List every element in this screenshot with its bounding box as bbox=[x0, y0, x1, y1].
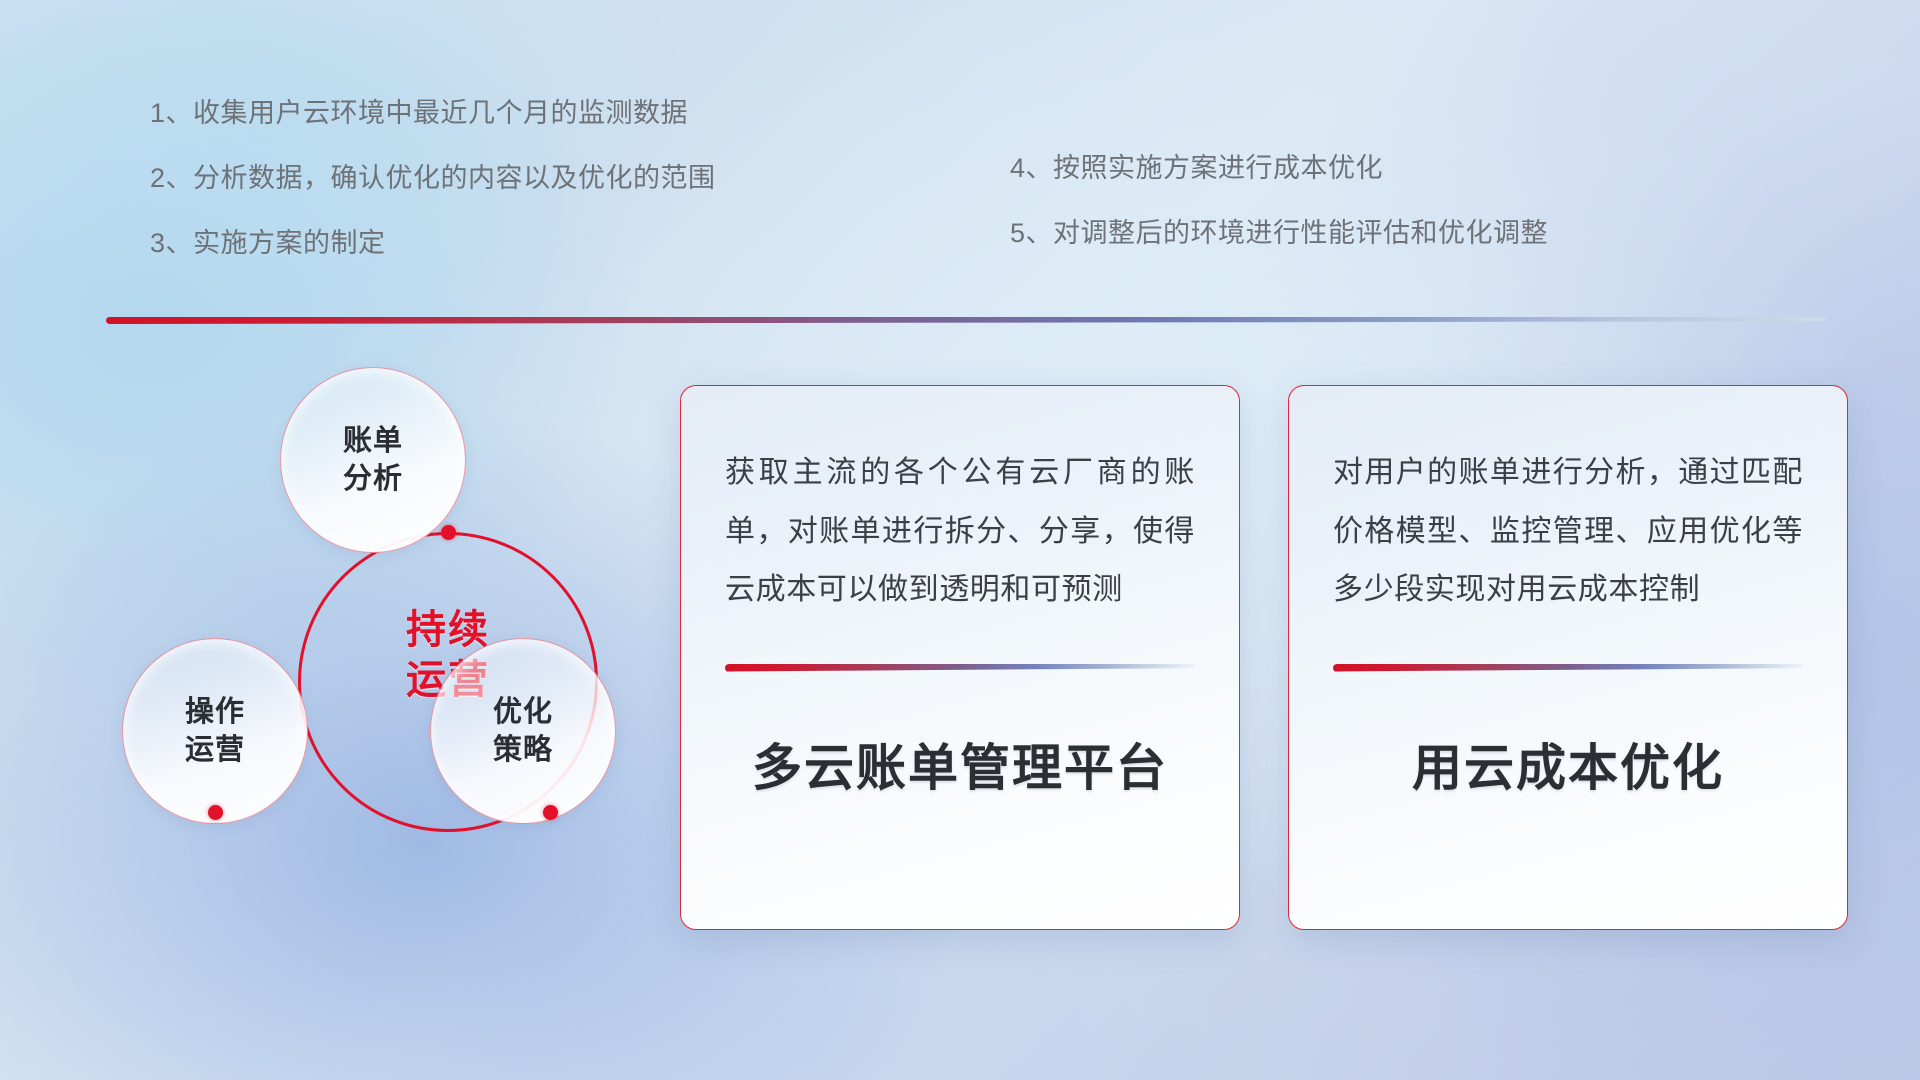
venn-bubble-optimization-strategy[interactable]: 优化 策略 bbox=[430, 638, 616, 824]
step-item-5: 5、对调整后的环境进行性能评估和优化调整 bbox=[1010, 220, 1548, 247]
venn-bubble-right-line1: 优化 bbox=[493, 696, 553, 728]
card-multicloud-billing-platform[interactable]: 获取主流的各个公有云厂商的账单，对账单进行拆分、分享，使得云成本可以做到透明和可… bbox=[680, 385, 1240, 930]
venn-bubble-left-line1: 操作 bbox=[185, 696, 245, 728]
venn-diagram: 持续 运营 账单 分析 操作 运营 优化 策略 bbox=[100, 350, 660, 960]
header-accent-rule bbox=[106, 317, 1826, 324]
venn-bubble-right-line2: 策略 bbox=[493, 734, 553, 766]
venn-node-dot-right bbox=[543, 805, 558, 820]
venn-bubble-left-line2: 运营 bbox=[185, 734, 245, 766]
step-item-2: 2、分析数据，确认优化的内容以及优化的范围 bbox=[150, 165, 716, 192]
steps-left-column: 1、收集用户云环境中最近几个月的监测数据 2、分析数据，确认优化的内容以及优化的… bbox=[150, 100, 716, 257]
step-item-4: 4、按照实施方案进行成本优化 bbox=[1010, 155, 1548, 182]
card-1-divider bbox=[725, 664, 1195, 672]
venn-node-dot-left bbox=[208, 805, 223, 820]
step-item-3: 3、实施方案的制定 bbox=[150, 230, 716, 257]
card-2-body: 对用户的账单进行分析，通过匹配价格模型、监控管理、应用优化等多少段实现对用云成本… bbox=[1333, 444, 1803, 620]
venn-bubble-billing-analysis[interactable]: 账单 分析 bbox=[280, 367, 466, 553]
step-item-1: 1、收集用户云环境中最近几个月的监测数据 bbox=[150, 100, 716, 127]
slide-canvas: 1、收集用户云环境中最近几个月的监测数据 2、分析数据，确认优化的内容以及优化的… bbox=[0, 0, 1920, 1080]
venn-bubble-top-line1: 账单 bbox=[343, 425, 403, 457]
card-2-divider bbox=[1333, 664, 1803, 672]
steps-right-column: 4、按照实施方案进行成本优化 5、对调整后的环境进行性能评估和优化调整 bbox=[1010, 155, 1548, 247]
venn-bubble-operations[interactable]: 操作 运营 bbox=[122, 638, 308, 824]
card-1-title: 多云账单管理平台 bbox=[725, 728, 1195, 800]
card-1-body: 获取主流的各个公有云厂商的账单，对账单进行拆分、分享，使得云成本可以做到透明和可… bbox=[725, 444, 1195, 620]
card-cloud-cost-optimization[interactable]: 对用户的账单进行分析，通过匹配价格模型、监控管理、应用优化等多少段实现对用云成本… bbox=[1288, 385, 1848, 930]
card-2-title: 用云成本优化 bbox=[1333, 728, 1803, 800]
venn-bubble-top-line2: 分析 bbox=[343, 463, 403, 495]
venn-node-dot-top bbox=[441, 525, 456, 540]
